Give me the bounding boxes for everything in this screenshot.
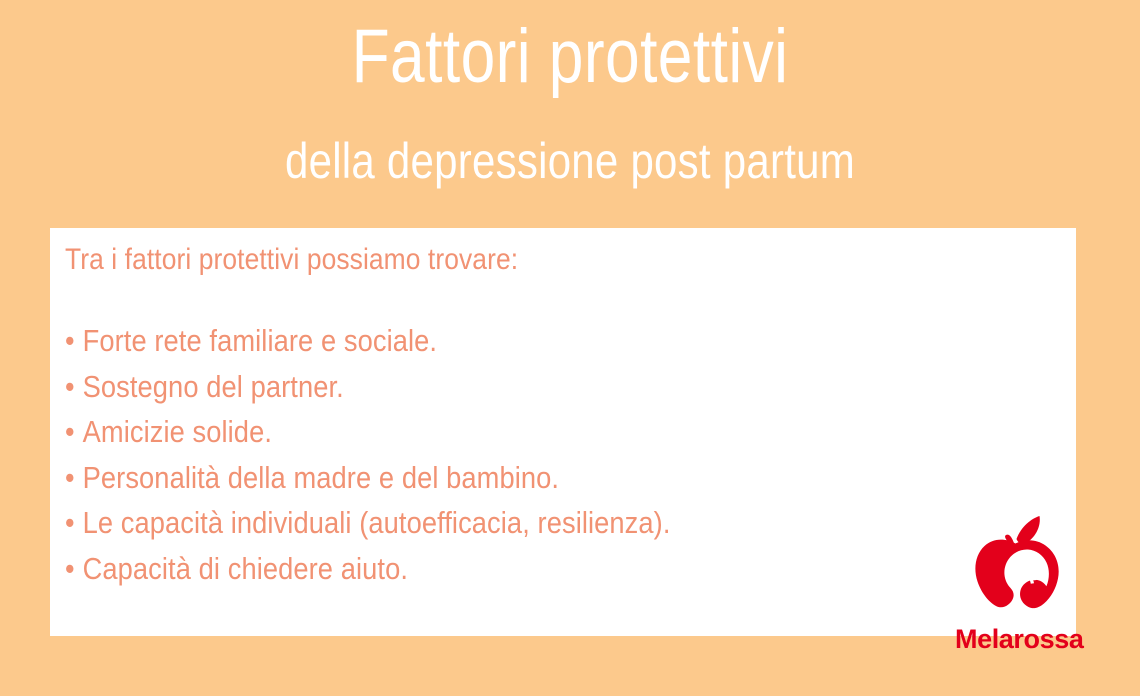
list-item-label: Sostegno del partner.	[83, 369, 344, 404]
list-item: •Personalità della madre e del bambino.	[65, 455, 946, 501]
bullet-dot-icon: •	[65, 364, 83, 410]
infographic-canvas: Fattori protettivi della depressione pos…	[0, 0, 1140, 696]
list-item: •Capacità di chiedere aiuto.	[65, 546, 946, 592]
bullet-dot-icon: •	[65, 500, 83, 546]
list-item: •Le capacità individuali (autoefficacia,…	[65, 500, 946, 546]
bullet-dot-icon: •	[65, 455, 83, 501]
page-title: Fattori protettivi	[103, 14, 1038, 100]
list-item-label: Forte rete familiare e sociale.	[83, 323, 437, 358]
list-item: •Forte rete familiare e sociale.	[65, 318, 946, 364]
list-item: •Sostegno del partner.	[65, 364, 946, 410]
list-item: •Amicizie solide.	[65, 409, 946, 455]
list-item-label: Capacità di chiedere aiuto.	[83, 551, 408, 586]
protective-factors-list: •Forte rete familiare e sociale. •Sosteg…	[65, 318, 1066, 591]
brand-wordmark: Melarossa	[955, 624, 1083, 654]
content-card-body: Tra i fattori protettivi possiamo trovar…	[65, 240, 1066, 591]
intro-text: Tra i fattori protettivi possiamo trovar…	[65, 240, 946, 280]
bullet-dot-icon: •	[65, 409, 83, 455]
list-item-label: Le capacità individuali (autoefficacia, …	[83, 505, 671, 540]
content-card: Tra i fattori protettivi possiamo trovar…	[50, 228, 1076, 636]
brand-logo: Melarossa	[955, 512, 1080, 672]
page-subtitle: della depressione post partum	[91, 132, 1049, 190]
red-apple-icon	[963, 512, 1069, 616]
list-item-label: Amicizie solide.	[83, 414, 272, 449]
header: Fattori protettivi della depressione pos…	[0, 0, 1140, 210]
bullet-dot-icon: •	[65, 318, 83, 364]
bullet-dot-icon: •	[65, 546, 83, 592]
list-item-label: Personalità della madre e del bambino.	[83, 460, 559, 495]
